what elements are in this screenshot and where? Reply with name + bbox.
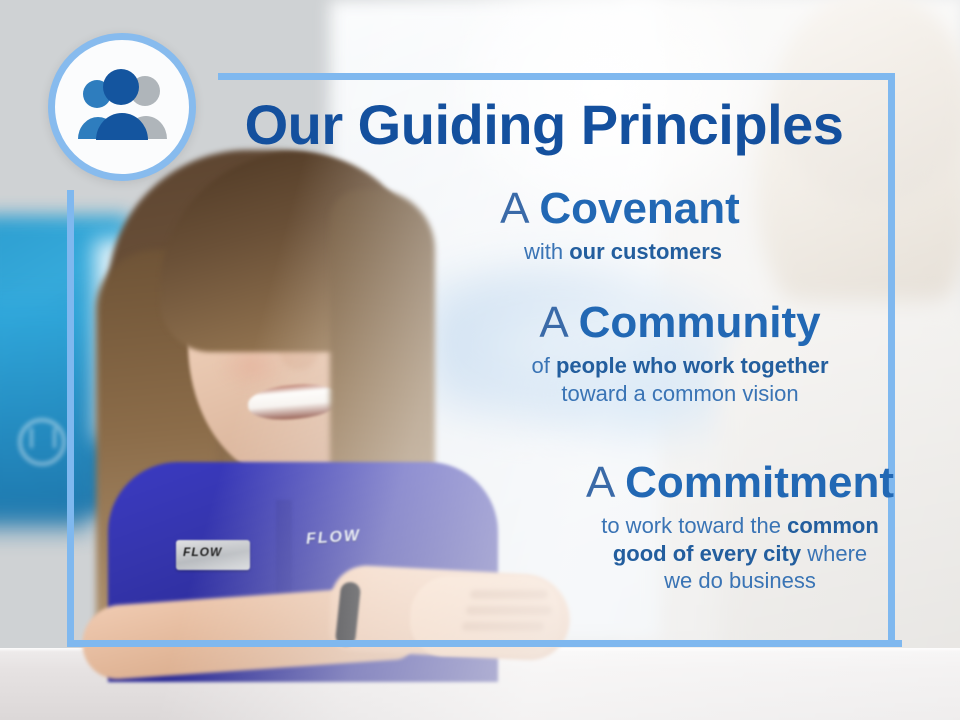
principle-subtext-1-bold: our customers [569, 239, 722, 264]
people-group-badge [48, 33, 196, 181]
principle-heading-1: A Covenant [140, 186, 960, 232]
principle-subtext-3-plain: to work toward the [601, 513, 787, 538]
principle-block-community: A Community of people who work together … [0, 300, 960, 407]
principle-subtext-1: with our customers [140, 238, 960, 266]
principle-subtext-1-plain: with [524, 239, 569, 264]
principle-subtext-3-line3: we do business [664, 568, 816, 593]
principle-subtext-2-bold: people who work together [556, 353, 829, 378]
principle-subtext-2: of people who work together toward a com… [200, 352, 960, 407]
principle-subtext-3-line2-bold: good of every city [613, 541, 801, 566]
principle-word-1: Covenant [539, 184, 739, 233]
principle-lead-3: A [586, 458, 613, 507]
banner-graphic: FLOW FLOW Our Guiding Principles [0, 0, 960, 720]
principle-heading-3: A Commitment [260, 460, 960, 506]
principle-subtext-3: to work toward the common good of every … [260, 512, 960, 595]
principle-subtext-2-line2: toward a common vision [561, 381, 798, 406]
principle-subtext-3-line2-plain: where [801, 541, 867, 566]
principle-block-commitment: A Commitment to work toward the common g… [0, 460, 960, 595]
principle-word-2: Community [579, 298, 821, 347]
principle-lead-2: A [539, 298, 566, 347]
principle-heading-2: A Community [200, 300, 960, 346]
principle-subtext-2-plain: of [531, 353, 555, 378]
principle-lead-1: A [500, 184, 527, 233]
principle-block-covenant: A Covenant with our customers [0, 186, 960, 266]
page-title: Our Guiding Principles [214, 97, 874, 153]
people-group-icon [69, 69, 175, 145]
principle-word-3: Commitment [625, 458, 894, 507]
principle-subtext-3-bold: common [787, 513, 879, 538]
